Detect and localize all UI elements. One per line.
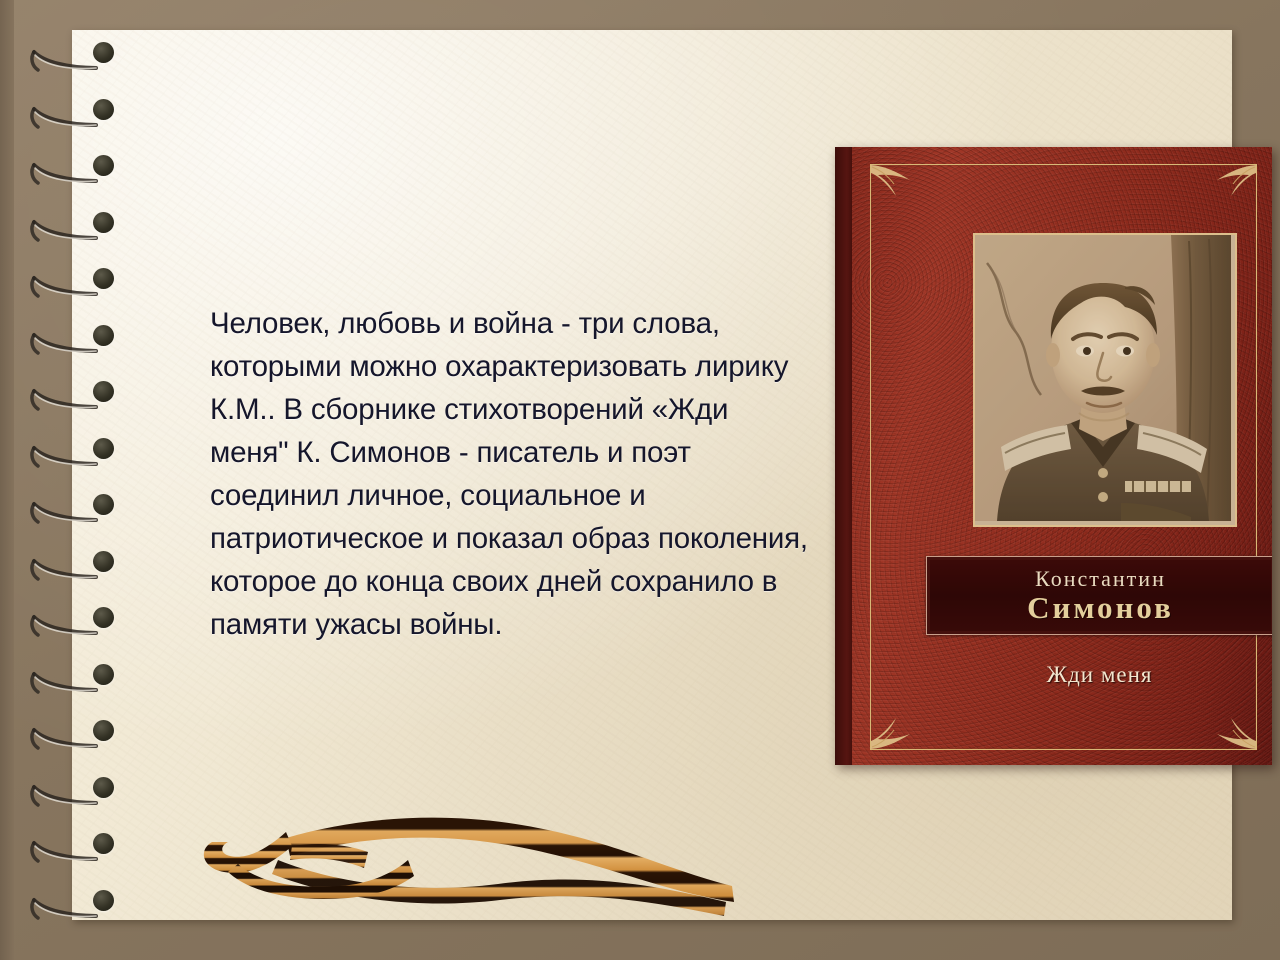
binding-hole <box>93 551 114 572</box>
binding-hole <box>93 438 114 459</box>
author-first-name: Константин <box>1035 567 1166 591</box>
binding-hole <box>93 42 114 63</box>
corner-ornament-icon <box>1211 710 1257 750</box>
binding-hole <box>93 325 114 346</box>
binding-hole <box>93 890 114 911</box>
binding-hole <box>93 720 114 741</box>
binding-hole <box>93 664 114 685</box>
corner-ornament-icon <box>870 164 916 204</box>
author-portrait <box>973 233 1237 527</box>
binding-hole <box>93 607 114 628</box>
binding-hole <box>93 212 114 233</box>
book-title: Жди меня <box>926 662 1272 688</box>
author-name-plaque: Константин Симонов <box>926 556 1272 635</box>
binding-hole <box>93 155 114 176</box>
slide-canvas: Человек, любовь и война - три слова, кот… <box>0 0 1280 960</box>
book-cover: Константин Симонов Жди меня <box>835 147 1272 765</box>
notepad-paper: Человек, любовь и война - три слова, кот… <box>72 30 1232 920</box>
corner-ornament-icon <box>870 710 916 750</box>
st-george-ribbon-icon <box>168 798 748 918</box>
book-spine <box>835 147 852 765</box>
binding-hole <box>93 833 114 854</box>
binding-hole <box>93 268 114 289</box>
binding-hole <box>93 494 114 515</box>
binding-hole <box>93 99 114 120</box>
binding-hole <box>93 777 114 798</box>
corner-ornament-icon <box>1211 164 1257 204</box>
body-paragraph: Человек, любовь и война - три слова, кот… <box>210 302 832 646</box>
author-last-name: Симонов <box>1027 591 1174 624</box>
binding-hole <box>93 381 114 402</box>
gold-ornamental-frame: Константин Симонов Жди меня <box>870 164 1257 750</box>
